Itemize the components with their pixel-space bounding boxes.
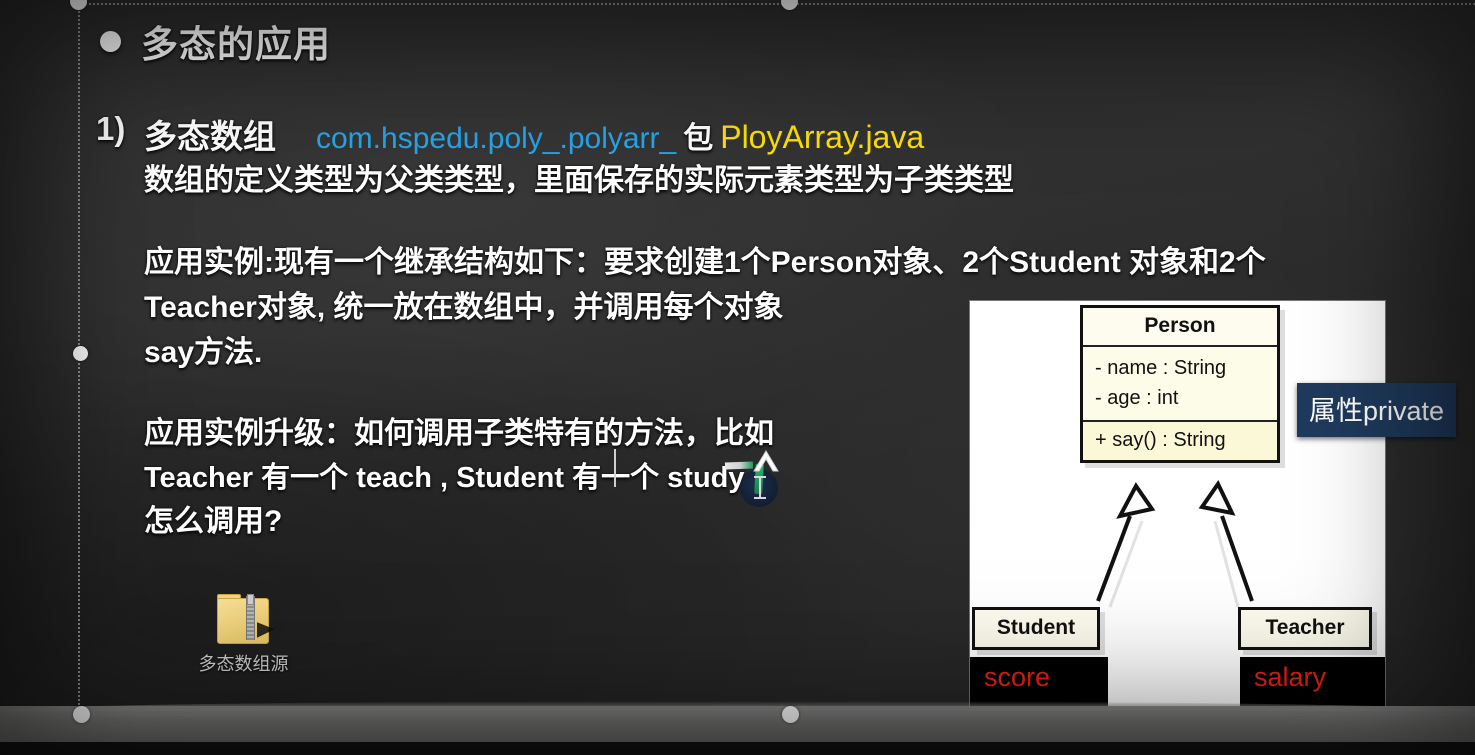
uml-diagram-panel: Person - name : String - age : int + say…: [970, 301, 1385, 706]
uml-person-attribute-name: - name : String: [1095, 353, 1265, 383]
item-heading-cn: 多态数组: [144, 110, 276, 158]
paragraph-b-line-1: 应用实例升级：如何调用子类特有的方法，比如: [144, 412, 774, 456]
desktop-icon-polymorphic-array-source[interactable]: 多态数组源: [186, 592, 301, 676]
paragraph-b-line-2: Teacher 有一个 teach , Student 有一个 study: [144, 456, 774, 500]
cursor-chevron-icon: [753, 450, 779, 472]
uml-class-teacher-name: Teacher: [1241, 610, 1369, 647]
item-subheading: 数组的定义类型为父类类型，里面保存的实际元素类型为子类类型: [144, 155, 1014, 199]
item-index: 1): [96, 110, 125, 148]
uml-person-attributes: - name : String - age : int: [1083, 347, 1277, 420]
slide-bottom-band: [0, 706, 1475, 742]
package-word: 包: [683, 113, 713, 157]
java-file-name: PloyArray.java: [720, 119, 924, 156]
uml-person-attribute-age: - age : int: [1095, 383, 1265, 413]
zip-folder-body: [217, 598, 269, 644]
slide-screen: 多态的应用 1) 多态数组 com.hspedu.poly_.polyarr_ …: [0, 0, 1475, 755]
paragraph-a-line-1: 应用实例:现有一个继承结构如下：要求创建1个Person对象、2个Student…: [144, 240, 1266, 285]
desktop-icon-label: 多态数组源: [186, 650, 301, 676]
package-path: com.hspedu.poly_.polyarr_: [316, 122, 676, 156]
uml-class-student: Student: [972, 607, 1100, 650]
slide-title: 多态的应用: [100, 14, 331, 68]
annotation-private-attributes: 属性private: [1297, 383, 1456, 437]
zip-pull-icon: [247, 594, 254, 605]
cursor-accent-horizontal: [725, 462, 753, 470]
frame-dot-bottom-left: [73, 706, 90, 723]
slide-title-text: 多态的应用: [141, 14, 331, 68]
zip-folder-icon: [217, 592, 271, 644]
paragraph-b-line-3: 怎么调用?: [144, 500, 774, 544]
uml-class-teacher: Teacher: [1238, 607, 1372, 650]
uml-class-person: Person - name : String - age : int + say…: [1080, 305, 1280, 463]
uml-teacher-member-salary: salary: [1240, 657, 1385, 707]
uml-class-person-name: Person: [1083, 308, 1277, 345]
uml-class-student-name: Student: [975, 610, 1097, 647]
screen-bottom-strip: [0, 742, 1475, 755]
uml-student-member-score: score: [970, 657, 1108, 707]
paragraph-application-upgrade: 应用实例升级：如何调用子类特有的方法，比如 Teacher 有一个 teach …: [144, 412, 774, 544]
mouse-cursor: [735, 460, 791, 516]
text-ibeam-cursor-icon: [753, 474, 766, 501]
bullet-dot-icon: [100, 31, 121, 52]
frame-dot-middle-left: [73, 346, 88, 361]
item-heading-row: 多态数组 com.hspedu.poly_.polyarr_ 包 PloyArr…: [144, 110, 924, 158]
frame-dotted-line-top: [78, 3, 1475, 5]
frame-dot-bottom-center: [782, 706, 799, 723]
text-caret: [614, 449, 616, 487]
uml-person-operation-say: + say() : String: [1083, 422, 1277, 460]
